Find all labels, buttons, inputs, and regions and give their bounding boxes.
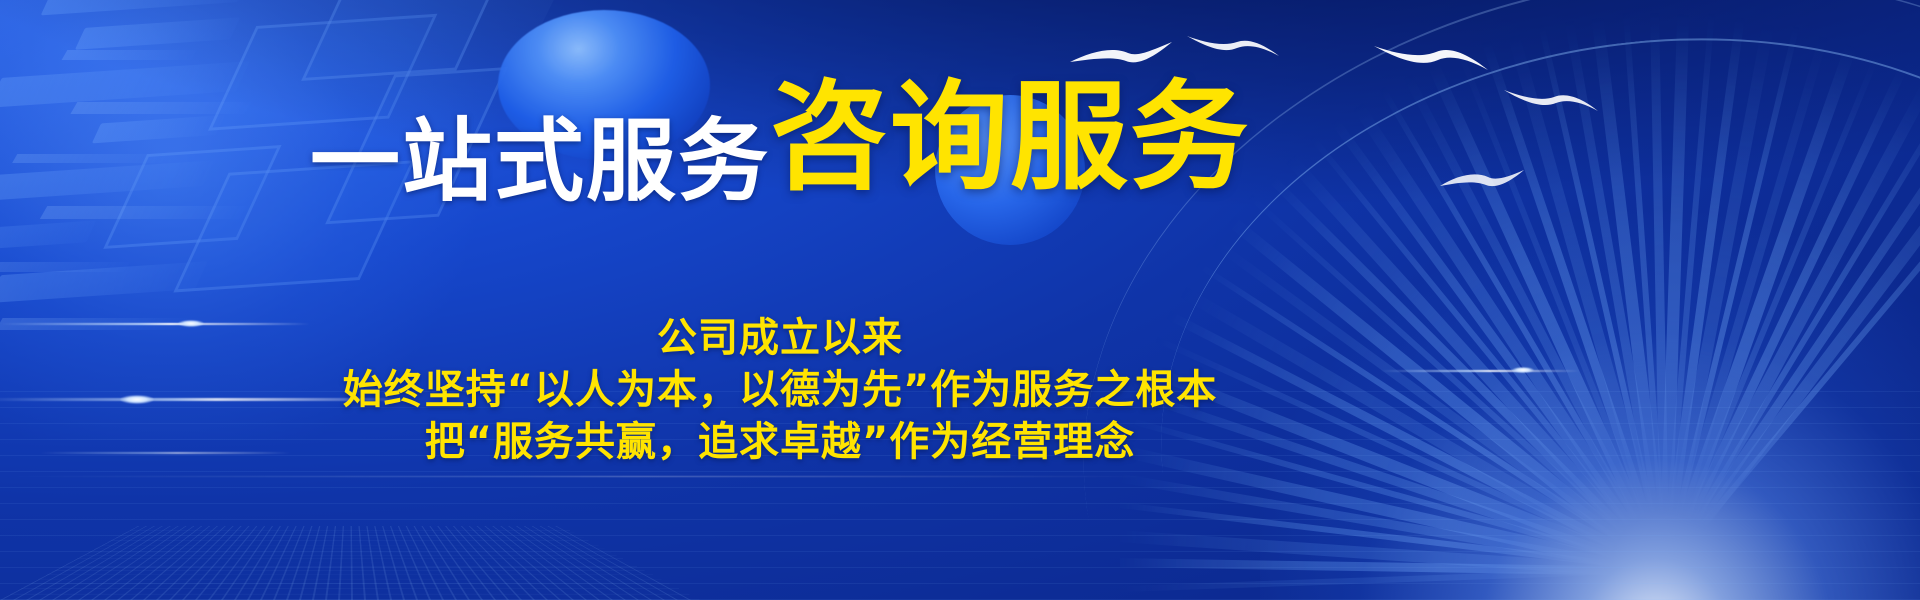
subtitle-line-1: 公司成立以来 <box>0 312 1560 364</box>
seagull-icon-2 <box>1185 30 1281 62</box>
banner-headline: 一站式服务咨询服务 <box>0 78 1560 207</box>
seagull-icon-3 <box>1372 38 1490 78</box>
subtitle-line-3: 把“服务共赢，追求卓越”作为经营理念 <box>0 416 1560 468</box>
headline-primary-text: 一站式服务 <box>310 109 770 214</box>
headline-accent-text: 咨询服务 <box>770 68 1250 206</box>
promotional-banner: 一站式服务咨询服务 公司成立以来 始终坚持“以人为本，以德为先”作为服务之根本 … <box>0 0 1920 600</box>
banner-subtitle: 公司成立以来 始终坚持“以人为本，以德为先”作为服务之根本 把“服务共赢，追求卓… <box>0 312 1560 468</box>
subtitle-line-2: 始终坚持“以人为本，以德为先”作为服务之根本 <box>0 364 1560 416</box>
light-streak-5 <box>0 476 1160 477</box>
